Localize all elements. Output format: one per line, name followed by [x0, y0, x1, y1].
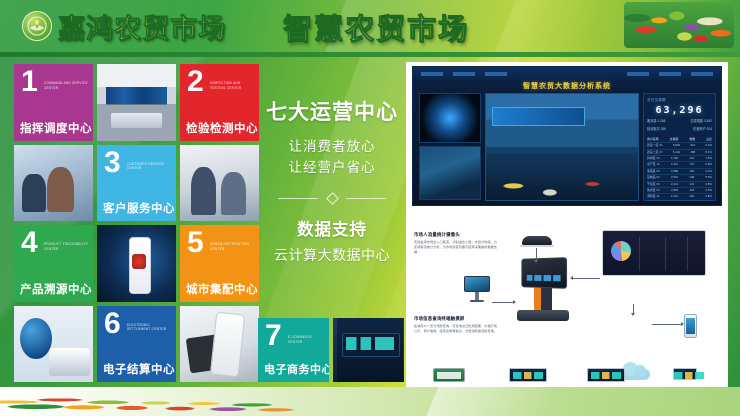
- card-english-subtitle: E-COMMERCE CENTER: [288, 335, 325, 344]
- card-english-subtitle: ELECTRONIC SETTLEMENT CENTER: [127, 323, 172, 332]
- cell-amount: 2,410: [671, 194, 678, 199]
- arrowhead-right: [513, 300, 516, 304]
- col-header: 交易额: [670, 137, 679, 142]
- cell-amount: 3,510: [671, 175, 678, 180]
- cell-count: 131: [689, 182, 694, 187]
- grid-cell-photo-customer-service: [180, 145, 259, 222]
- grid-cell-photo-scale: [337, 318, 403, 382]
- operation-centers-grid: 1 COMMAND AND SERVICE CENTER 指挥调度中心 2 IN…: [14, 64, 259, 382]
- brand-name: 嘉鸿农贸市场: [58, 7, 226, 46]
- cell-merchant: 豆制品 02: [647, 175, 660, 180]
- mobile-smart-inquiry-icon: [673, 368, 697, 380]
- card-number: 6: [104, 309, 121, 339]
- cell-count: 176: [689, 162, 694, 167]
- cell-count: 102: [689, 194, 694, 199]
- caption-text: 集成商户一览与溯源查询，可查询当日检测结果、价格行情公示、商户信用、经营资质等信…: [414, 324, 500, 334]
- sub-metric-label: 在营商户: [693, 127, 706, 131]
- cell-amount: 3,024: [671, 182, 678, 187]
- cell-merchant: 熟食区 04: [647, 188, 660, 193]
- card-number: 7: [265, 321, 282, 351]
- cell-share: 7.5%: [705, 156, 712, 161]
- center-title: 七大运营中心: [262, 96, 402, 126]
- poster-page: 嘉鸿农贸市场 智慧农贸市场 1 COMMAND AND SERVICE CENT…: [0, 0, 740, 416]
- sub-metric-label: 检测批次: [647, 127, 660, 131]
- dashboard-live-video: [485, 93, 639, 201]
- touch-inquiry-terminal-icon: [464, 276, 490, 302]
- sub-metric-value: 186: [661, 127, 666, 131]
- cell-count: 148: [689, 175, 694, 180]
- arrowhead-left: [570, 276, 573, 280]
- grid-cell-card-2[interactable]: 2 INSPECTION AND TESTING CENTER 检验检测中心: [180, 64, 259, 141]
- grid-cell-photo-payment: [180, 306, 259, 383]
- cell-amount: 4,312: [671, 162, 678, 167]
- card-number: 5: [187, 228, 204, 258]
- center-text-column: 七大运营中心 让消费者放心 让经营户省心 数据支持 云计算大数据中心: [262, 96, 402, 265]
- caption-text: 实时监测市场出入口客流，识别进出人数，支持分时段、分区域客流统计分析，为市场运营…: [414, 240, 500, 255]
- center-subtitle-3: 云计算大数据中心: [262, 245, 402, 265]
- card-title: 指挥调度中心: [20, 120, 88, 136]
- grid-cell-photo-control-room: [97, 64, 176, 141]
- kpi-sub-metrics-2: 检测批次 186 在营商户 204: [647, 127, 712, 132]
- cell-amount: 5,820: [673, 143, 680, 148]
- kpi-sub-metrics: 客流量 1,268 交易笔数 3,452: [647, 119, 712, 124]
- card-title: 客户服务中心: [103, 200, 171, 216]
- cell-share: 9.2%: [705, 143, 712, 148]
- card-english-subtitle: URBAN DISTRIBUTION CENTER: [210, 242, 255, 251]
- food-safety-screen-icon: [587, 368, 625, 382]
- col-header: 笔数: [689, 137, 695, 142]
- arrow-camera-to-pos: [536, 248, 537, 260]
- col-header: 占比: [706, 137, 712, 142]
- grid-cell-card-6[interactable]: 6 ELECTRONIC SETTLEMENT CENTER 电子结算中心: [97, 306, 176, 383]
- system-architecture-diagram: 市场人流量统计摄像头 实时监测市场出入口客流，识别进出人数，支持分时段、分区域客…: [412, 210, 722, 382]
- cell-share: 4.5%: [705, 188, 712, 193]
- cell-merchant: 蔬菜一区 01: [647, 143, 663, 148]
- grid-cell-card-5[interactable]: 5 URBAN DISTRIBUTION CENTER 城市集配中心: [180, 225, 259, 302]
- dashboard-topbar: [413, 67, 721, 81]
- dashboard-orb-visual: [419, 93, 481, 143]
- mobile-phone-icon: [684, 314, 697, 338]
- big-data-display-monitor-icon: [602, 230, 706, 276]
- cell-merchant: 蔬菜二区 07: [647, 150, 663, 155]
- smart-scale-pos-icon: [516, 258, 570, 322]
- dashboard-ranking-table: 商户名称 交易额 笔数 占比 蔬菜一区 01 5,820 312 9.2% 蔬菜…: [647, 137, 712, 201]
- cell-share: 8.1%: [705, 150, 712, 155]
- grid-cell-card-4[interactable]: 4 PRODUCT TRACEABILITY CENTER 产品溯源中心: [14, 225, 93, 302]
- card-english-subtitle: PRODUCT TRACEABILITY CENTER: [44, 242, 89, 251]
- big-data-dashboard-screenshot: 智慧农贸大数据分析系统 今日交易额 63,296 客流量 1,268 交易笔数 …: [412, 66, 722, 206]
- smart-scale-display-photo: [337, 318, 403, 382]
- cell-amount: 5,104: [673, 150, 680, 155]
- traceability-phone-photo: [97, 225, 176, 302]
- sub-metric-value: 204: [707, 127, 712, 131]
- cell-share: 4.8%: [705, 182, 712, 187]
- card-title: 检验检测中心: [186, 120, 254, 136]
- control-room-photo: [97, 64, 176, 141]
- cell-amount: 3,988: [671, 169, 678, 174]
- page-header: 嘉鸿农贸市场 智慧农贸市场: [0, 0, 740, 52]
- cell-share: 5.5%: [705, 175, 712, 180]
- card-title: 产品溯源中心: [20, 281, 88, 297]
- laboratory-photo: [14, 145, 93, 222]
- cell-count: 118: [690, 188, 695, 193]
- cell-merchant: 鲜肉区 03: [647, 156, 660, 161]
- center-subtitle-2: 让经营户省心: [262, 158, 402, 179]
- cell-count: 312: [690, 143, 695, 148]
- dashboard-tabs-right[interactable]: [627, 72, 713, 76]
- cell-merchant: 禽蛋区 05: [647, 169, 660, 174]
- grid-cell-photo-logistics: [14, 306, 93, 383]
- sub-metric-value: 1,268: [657, 119, 665, 123]
- page-title: 智慧农贸市场: [283, 6, 469, 48]
- center-subtitle-1: 让消费者放心: [262, 137, 402, 158]
- card-title: 城市集配中心: [186, 281, 254, 297]
- caption-title: 市场信息查询终端触摸屏: [414, 316, 500, 322]
- sub-metric-label: 客流量: [647, 119, 657, 123]
- arrow-terminal-to-pos: [492, 302, 514, 303]
- center-title-2: 数据支持: [262, 216, 402, 240]
- arrowhead-down-2: [631, 313, 635, 316]
- card-title: 电子商务中心: [264, 361, 324, 377]
- col-header: 商户名称: [647, 137, 659, 142]
- card-title: 电子结算中心: [103, 361, 171, 377]
- arrow-pos-to-monitor: [572, 278, 600, 279]
- grid-cell-photo-laboratory: [14, 145, 93, 222]
- price-display-board-icon: [433, 368, 465, 382]
- header-sheen-decoration-2: [472, 0, 619, 52]
- card-number: 2: [187, 67, 204, 97]
- ceiling-camera-icon: [522, 236, 552, 245]
- sprout-circle-logo-icon: [22, 11, 52, 41]
- sub-metric-value: 3,452: [704, 119, 712, 123]
- cell-count: 201: [689, 156, 694, 161]
- grid-cell-photo-traceability: [97, 225, 176, 302]
- mobile-payment-photo: [180, 306, 259, 383]
- grid-cell-card-3[interactable]: 3 CUSTOMER SERVICE CENTER 客户服务中心: [97, 145, 176, 222]
- cell-count: 164: [689, 169, 694, 174]
- card-english-subtitle: COMMAND AND SERVICE CENTER: [44, 81, 89, 90]
- dashboard-kpi-panel: 今日交易额 63,296 客流量 1,268 交易笔数 3,452 检测批次: [643, 93, 716, 201]
- grid-cell-card-1[interactable]: 1 COMMAND AND SERVICE CENTER 指挥调度中心: [14, 64, 93, 141]
- dashboard-left-column: [419, 93, 481, 201]
- card-english-subtitle: CUSTOMER SERVICE CENTER: [127, 162, 172, 171]
- cell-share: 6.3%: [705, 169, 712, 174]
- right-content-panel: 智慧农贸大数据分析系统 今日交易额 63,296 客流量 1,268 交易笔数 …: [406, 62, 728, 388]
- cell-share: 6.8%: [705, 162, 712, 167]
- price-data-board-icon: [509, 368, 547, 382]
- cell-share: 3.8%: [705, 194, 712, 199]
- cell-amount: 2,866: [671, 188, 678, 193]
- cell-merchant: 干货区 09: [647, 182, 660, 187]
- card-number: 1: [21, 67, 38, 97]
- footer-sheen-decoration: [418, 387, 562, 416]
- page-footer: [0, 387, 740, 416]
- sub-metric-label: 交易笔数: [690, 119, 703, 123]
- vegetables-basket-icon: [624, 2, 734, 48]
- card-number: 3: [104, 148, 121, 178]
- cell-merchant: 调料区 11: [647, 194, 659, 199]
- diagram-caption-terminal: 市场信息查询终端触摸屏 集成商户一览与溯源查询，可查询当日检测结果、价格行情公示…: [414, 316, 500, 334]
- kpi-label: 今日交易额: [647, 97, 712, 102]
- arrowhead-right-2: [681, 322, 684, 326]
- table-row: 调料区 11 2,410 102 3.8%: [647, 194, 712, 200]
- kpi-value: 63,296: [647, 105, 712, 116]
- footer-vegetables-icon: [0, 387, 300, 416]
- monitor-pie-chart: [611, 241, 631, 261]
- card-english-subtitle: INSPECTION AND TESTING CENTER: [210, 81, 255, 90]
- diamond-divider-icon: [278, 194, 386, 203]
- cell-amount: 4,766: [671, 156, 678, 161]
- diagram-caption-camera: 市场人流量统计摄像头 实时监测市场出入口客流，识别进出人数，支持分时段、分区域客…: [414, 232, 500, 255]
- grid-cell-card-7[interactable]: 7 E-COMMERCE CENTER 电子商务中心: [258, 318, 329, 382]
- cell-count: 288: [690, 150, 695, 155]
- customer-service-photo: [180, 145, 259, 222]
- arrowhead-down: [534, 260, 538, 263]
- dashboard-tabs-left[interactable]: [421, 72, 507, 76]
- dashboard-market-thumbnail: [419, 146, 481, 200]
- arrow-cloud-to-phone: [652, 324, 682, 325]
- dashboard-title: 智慧农贸大数据分析系统: [413, 81, 721, 91]
- logistics-globe-photo: [14, 306, 93, 383]
- cell-merchant: 水产区 12: [647, 162, 660, 167]
- card-number: 4: [21, 228, 38, 258]
- caption-title: 市场人流量统计摄像头: [414, 232, 500, 238]
